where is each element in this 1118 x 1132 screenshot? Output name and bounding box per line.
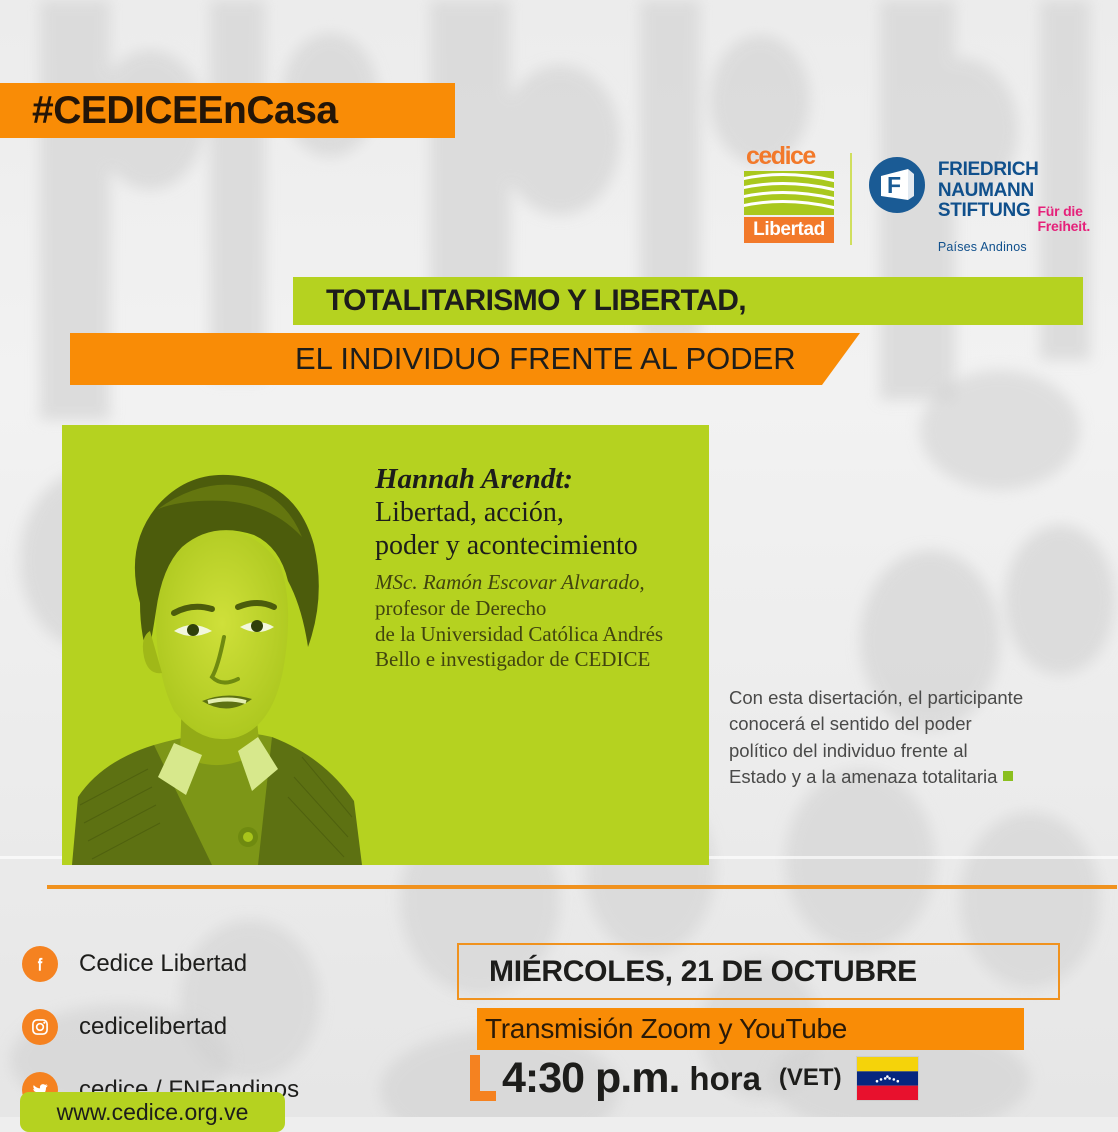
website-label: www.cedice.org.ve [57, 1099, 249, 1126]
section-divider [47, 885, 1117, 889]
logo-divider [850, 153, 852, 245]
title-line-2: EL INDIVIDUO FRENTE AL PODER [295, 341, 796, 377]
description-end-square-icon [1003, 771, 1013, 781]
description-line-3: político del individuo frente al [729, 738, 1049, 764]
event-stream: Transmisión Zoom y YouTube [485, 1013, 847, 1045]
hashtag-label: #CEDICEEnCasa [32, 91, 338, 130]
talk-details: Hannah Arendt: Libertad, acción, poder y… [375, 462, 705, 673]
cedice-logo: cedice Libertad [744, 144, 834, 243]
social-label-facebook: Cedice Libertad [79, 950, 247, 978]
fns-region: Países Andinos [938, 240, 1118, 254]
speaker-role: profesor de Derecho [375, 596, 705, 622]
hashtag-banner: #CEDICEEnCasa [0, 83, 455, 138]
event-time-word: hora [689, 1062, 761, 1095]
fns-name-line1: FRIEDRICH NAUMANN [938, 160, 1118, 201]
cedice-tagline: Libertad [744, 217, 834, 243]
speaker-affiliation-2: Bello e investigador de CEDICE [375, 647, 705, 673]
title-bar-primary: TOTALITARISMO Y LIBERTAD, [293, 277, 1083, 325]
cedice-wave-icon [744, 171, 834, 215]
talk-subject: Hannah Arendt: [375, 462, 705, 496]
svg-text:F: F [887, 172, 901, 198]
corner-bracket-icon [470, 1055, 496, 1101]
title-line-1: TOTALITARISMO Y LIBERTAD, [326, 284, 746, 318]
instagram-icon[interactable] [22, 1009, 58, 1045]
speaker-portrait [62, 425, 382, 865]
fns-name-line2: STIFTUNG [938, 201, 1031, 222]
description-line-4: Estado y a la amenaza totalitaria [729, 766, 997, 787]
social-item-facebook[interactable]: Cedice Libertad [22, 940, 299, 988]
description-line-2: conocerá el sentido del poder [729, 711, 1049, 737]
fns-claim: Für die Freiheit. [1037, 204, 1118, 234]
description-block: Con esta disertación, el participante co… [729, 685, 1049, 790]
cedice-wordmark: cedice [744, 144, 834, 169]
event-timezone: (VET) [779, 1066, 842, 1090]
talk-title-line-1: Libertad, acción, [375, 496, 705, 529]
social-item-instagram[interactable]: cedicelibertad [22, 1003, 299, 1051]
title-bar-secondary: EL INDIVIDUO FRENTE AL PODER [70, 333, 860, 385]
event-stream-bar: Transmisión Zoom y YouTube [477, 1008, 1024, 1050]
speaker-name: MSc. Ramón Escovar Alvarado, [375, 570, 705, 596]
venezuela-flag-icon [856, 1056, 919, 1101]
website-bar[interactable]: www.cedice.org.ve [20, 1092, 285, 1132]
fns-logo: F FRIEDRICH NAUMANN STIFTUNG Für die Fre… [868, 144, 1118, 254]
event-time-row: 4:30 p.m. hora (VET) [470, 1055, 919, 1101]
logo-row: cedice Libertad F [744, 144, 1118, 254]
description-line-1: Con esta disertación, el participante [729, 685, 1049, 711]
fns-f-mark-icon: F [868, 156, 926, 214]
event-date: MIÉRCOLES, 21 DE OCTUBRE [489, 955, 917, 989]
social-label-instagram: cedicelibertad [79, 1013, 227, 1041]
event-date-box: MIÉRCOLES, 21 DE OCTUBRE [457, 943, 1060, 1000]
speaker-affiliation-1: de la Universidad Católica Andrés [375, 622, 705, 648]
talk-title-line-2: poder y acontecimiento [375, 529, 705, 562]
facebook-icon[interactable] [22, 946, 58, 982]
event-time: 4:30 p.m. [502, 1057, 679, 1100]
